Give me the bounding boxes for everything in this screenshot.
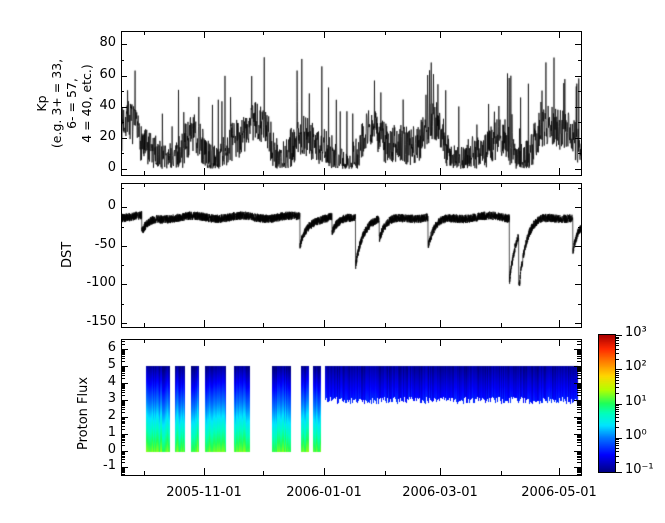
x-tick-major (324, 168, 325, 175)
x-tick-major (385, 323, 386, 327)
colorbar-tick-minor (615, 353, 619, 354)
flux-y-tick-minor (121, 440, 125, 441)
x-tick-major (385, 171, 386, 175)
flux-y-tick-minor (121, 358, 125, 359)
dst-y-tick-right (575, 207, 581, 208)
kp-y-tick-minor (578, 60, 581, 61)
flux-y-tick-minor (121, 370, 125, 371)
kp-title-line-4: 4 = 40, etc.) (79, 31, 94, 176)
flux-y-tick-minor (121, 404, 125, 405)
flux-y-tick-minor (121, 436, 125, 437)
x-tick-major (559, 320, 560, 327)
kp-title-line-1: Kp (34, 31, 49, 176)
flux-y-tick-minor (121, 367, 125, 368)
flux-y-tick-minor (577, 387, 581, 388)
dst-y-tick-minor (578, 265, 581, 266)
x-tick-major-top (324, 31, 325, 38)
flux-y-tick-minor (121, 368, 125, 369)
dst-y-tick-minor (578, 227, 581, 228)
x-tick-major (263, 323, 264, 327)
flux-y-tick-minor (121, 435, 125, 436)
colorbar-tick-minor (615, 417, 619, 418)
colorbar-tick-minor (615, 411, 619, 412)
dst-y-tick (121, 323, 127, 324)
x-tick-major-top (440, 183, 441, 190)
x-tick-major-top (263, 339, 264, 343)
kp-y-tick (121, 44, 127, 45)
x-tick-major (440, 468, 441, 475)
x-tick-major (559, 468, 560, 475)
flux-y-tick-minor (577, 421, 581, 422)
x-tick-major-top (144, 183, 145, 187)
flux-y-tick-minor (121, 457, 125, 458)
flux-y-tick-minor (121, 388, 125, 389)
flux-y-tick-minor (577, 354, 581, 355)
flux-y-tick-minor (577, 451, 581, 452)
flux-y-tick-minor (121, 426, 125, 427)
flux-y-tick-minor (577, 352, 581, 353)
kp-y-tick-minor (578, 91, 581, 92)
colorbar-tick-minor (615, 338, 619, 339)
colorbar-tick-minor (615, 380, 619, 381)
flux-y-tick-minor (577, 402, 581, 403)
flux-y-tick-minor (577, 474, 581, 475)
colorbar-gradient (599, 335, 615, 472)
dst-y-tick-minor (121, 265, 124, 266)
dst-y-tick (121, 207, 127, 208)
colorbar-tick-minor (615, 448, 619, 449)
flux-y-tick-minor (577, 470, 581, 471)
flux-y-tick-minor (577, 344, 581, 345)
flux-y-tick-minor (577, 442, 581, 443)
kp-y-tick (121, 76, 127, 77)
dst-ytick-label: -100 (64, 275, 116, 290)
flux-y-tick-minor (121, 459, 125, 460)
kp-panel (121, 31, 582, 176)
kp-y-tick-minor (121, 60, 124, 61)
x-tick-major-top (559, 339, 560, 346)
colorbar-tick-minor (615, 343, 619, 344)
flux-y-tick-minor (577, 367, 581, 368)
flux-y-tick-minor (121, 442, 125, 443)
x-tick-major-top (144, 31, 145, 35)
x-tick-major (263, 471, 264, 475)
x-tick-major-top (440, 31, 441, 38)
flux-y-tick-minor (577, 373, 581, 374)
colorbar-tick-minor (615, 371, 619, 372)
flux-y-tick-minor (577, 368, 581, 369)
flux-y-tick-minor (121, 350, 125, 351)
flux-y-tick-minor (577, 423, 581, 424)
kp-y-tick-right (575, 76, 581, 77)
colorbar (598, 334, 616, 473)
colorbar-tick-minor (615, 375, 619, 376)
colorbar-tick-label: 10² (625, 359, 647, 374)
flux-y-tick-minor (121, 421, 125, 422)
kp-y-tick (121, 169, 127, 170)
x-tick-major-top (385, 183, 386, 187)
flux-y-tick-minor (577, 384, 581, 385)
x-tick-major (501, 171, 502, 175)
flux-y-tick-minor (121, 403, 125, 404)
colorbar-tick-minor (615, 439, 619, 440)
flux-y-tick-minor (121, 385, 125, 386)
dst-y-tick-minor (121, 188, 124, 189)
dst-axis-title: DST (60, 242, 75, 268)
flux-y-tick-minor (577, 358, 581, 359)
flux-y-tick-minor (121, 469, 125, 470)
dst-y-tick-minor (578, 304, 581, 305)
flux-y-tick-minor (121, 453, 125, 454)
flux-y-tick-minor (577, 390, 581, 391)
flux-y-tick-minor (121, 353, 125, 354)
kp-y-tick-minor (121, 122, 124, 123)
flux-y-tick-minor (577, 395, 581, 396)
dst-y-tick-right (575, 323, 581, 324)
x-tick-label: 2006-05-01 (507, 485, 611, 500)
flux-y-tick-minor (577, 392, 581, 393)
x-tick-major (501, 471, 502, 475)
flux-y-tick-minor (577, 439, 581, 440)
colorbar-tick-minor (615, 456, 619, 457)
flux-y-tick-minor (577, 378, 581, 379)
dst-panel (121, 183, 582, 328)
figure-canvas: 806040200 Kp(e.g. 3+ = 33,6- = 57,4 = 40… (0, 0, 665, 523)
kp-axis-title: Kp(e.g. 3+ = 33,6- = 57,4 = 40, etc.) (34, 31, 94, 176)
flux-y-tick-minor (121, 375, 125, 376)
kp-title-line-3: 6- = 57, (64, 31, 79, 176)
flux-y-tick-minor (121, 451, 125, 452)
colorbar-tick-minor (615, 409, 619, 410)
flux-y-tick-minor (121, 412, 125, 413)
flux-y-tick-minor (577, 457, 581, 458)
kp-y-tick-right (575, 169, 581, 170)
flux-y-tick-minor (577, 459, 581, 460)
flux-ytick-label: 5 (86, 357, 116, 372)
colorbar-tick-minor (615, 441, 619, 442)
flux-y-tick-minor (577, 361, 581, 362)
proton-flux-heatmap-canvas (122, 340, 581, 475)
flux-y-tick-minor (121, 378, 125, 379)
flux-y-tick-minor (577, 388, 581, 389)
colorbar-tick-minor (615, 414, 619, 415)
x-tick-major (144, 471, 145, 475)
flux-y-tick-minor (577, 375, 581, 376)
x-tick-major (324, 468, 325, 475)
x-tick-major-top (501, 339, 502, 343)
flux-y-tick-minor (121, 373, 125, 374)
x-tick-major (501, 323, 502, 327)
flux-y-tick-minor (577, 462, 581, 463)
colorbar-tick-minor (615, 349, 619, 350)
x-tick-major (263, 171, 264, 175)
flux-y-tick-minor (577, 437, 581, 438)
colorbar-tick-minor (615, 407, 619, 408)
dst-y-tick (121, 284, 127, 285)
x-tick-major-top (501, 183, 502, 187)
flux-y-tick-minor (121, 423, 125, 424)
colorbar-tick-minor (615, 421, 619, 422)
colorbar-tick-minor (615, 345, 619, 346)
flux-y-tick-minor (577, 456, 581, 457)
flux-y-tick-minor (121, 387, 125, 388)
flux-y-tick-minor (121, 402, 125, 403)
flux-y-tick-minor (577, 404, 581, 405)
dst-y-tick-minor (121, 227, 124, 228)
flux-y-tick-minor (577, 369, 581, 370)
x-tick-major-top (204, 339, 205, 346)
flux-y-tick-minor (121, 351, 125, 352)
x-tick-major (204, 320, 205, 327)
colorbar-tick-minor (615, 462, 619, 463)
flux-y-tick-minor (121, 462, 125, 463)
flux-y-tick-minor (121, 409, 125, 410)
x-tick-major (144, 171, 145, 175)
kp-y-tick-right (575, 138, 581, 139)
x-tick-major (385, 471, 386, 475)
x-tick-major (440, 168, 441, 175)
flux-y-tick-minor (577, 407, 581, 408)
flux-y-tick-minor (577, 471, 581, 472)
colorbar-tick-minor (615, 405, 619, 406)
flux-ytick-label: 6 (86, 340, 116, 355)
flux-y-tick-minor (577, 385, 581, 386)
flux-y-tick-minor (577, 409, 581, 410)
flux-y-tick-minor (121, 429, 125, 430)
flux-y-tick-minor (121, 352, 125, 353)
x-tick-major-top (204, 31, 205, 38)
colorbar-tick-minor (615, 337, 619, 338)
flux-y-tick-minor (121, 392, 125, 393)
flux-y-tick-minor (121, 354, 125, 355)
kp-y-tick-right (575, 44, 581, 45)
flux-y-tick-minor (121, 454, 125, 455)
colorbar-tick-minor (615, 387, 619, 388)
flux-y-tick-minor (121, 422, 125, 423)
flux-y-tick-minor (121, 456, 125, 457)
dst-y-tick-minor (578, 188, 581, 189)
flux-y-tick-minor (577, 440, 581, 441)
flux-y-tick-minor (577, 472, 581, 473)
flux-y-tick-minor (577, 468, 581, 469)
flux-y-tick-minor (577, 350, 581, 351)
flux-y-tick-minor (121, 401, 125, 402)
kp-y-tick-minor (121, 153, 124, 154)
flux-y-tick-minor (121, 452, 125, 453)
x-tick-label: 2005-11-01 (152, 485, 256, 500)
kp-y-tick (121, 107, 127, 108)
dst-y-tick (121, 246, 127, 247)
flux-y-tick-minor (577, 453, 581, 454)
colorbar-tick-minor (615, 383, 619, 384)
colorbar-tick-minor (615, 340, 619, 341)
x-tick-major (144, 323, 145, 327)
x-tick-label: 2006-01-01 (272, 485, 376, 500)
flux-y-tick-minor (577, 436, 581, 437)
flux-y-tick-minor (121, 407, 125, 408)
kp-y-tick-right (575, 107, 581, 108)
flux-y-tick-minor (121, 437, 125, 438)
flux-y-tick-minor (121, 390, 125, 391)
kp-series-canvas (122, 32, 581, 175)
x-tick-major (324, 320, 325, 327)
flux-y-tick-minor (577, 371, 581, 372)
flux-y-tick-minor (121, 369, 125, 370)
flux-y-tick-minor (121, 386, 125, 387)
kp-title-line-2: (e.g. 3+ = 33, (49, 31, 64, 176)
kp-y-tick-minor (121, 91, 124, 92)
dst-y-tick-minor (121, 304, 124, 305)
flux-y-tick-minor (577, 403, 581, 404)
colorbar-tick-minor (615, 377, 619, 378)
colorbar-tick-minor (615, 359, 619, 360)
colorbar-tick-minor (615, 427, 619, 428)
x-tick-major-top (263, 183, 264, 187)
x-tick-major-top (559, 183, 560, 190)
flux-y-tick-minor (577, 454, 581, 455)
flux-y-tick-minor (577, 341, 581, 342)
flux-y-tick-minor (121, 395, 125, 396)
x-tick-major-top (440, 339, 441, 346)
flux-y-tick-minor (121, 468, 125, 469)
flux-y-tick-minor (121, 361, 125, 362)
x-tick-major (559, 168, 560, 175)
flux-y-tick-minor (577, 435, 581, 436)
flux-y-tick-minor (577, 370, 581, 371)
flux-y-tick-minor (121, 371, 125, 372)
x-tick-major (204, 468, 205, 475)
colorbar-tick-label: 10³ (625, 325, 647, 340)
dst-y-tick-right (575, 246, 581, 247)
flux-y-tick-minor (577, 418, 581, 419)
x-tick-major-top (204, 183, 205, 190)
x-tick-major-top (324, 339, 325, 346)
x-tick-major-top (144, 339, 145, 343)
flux-y-tick-minor (121, 434, 125, 435)
flux-y-tick-minor (577, 356, 581, 357)
flux-y-tick-minor (577, 412, 581, 413)
flux-y-tick-minor (121, 470, 125, 471)
flux-y-tick-minor (577, 401, 581, 402)
flux-y-tick-minor (121, 472, 125, 473)
flux-y-tick-minor (577, 353, 581, 354)
flux-y-tick-minor (121, 384, 125, 385)
flux-y-tick-minor (121, 474, 125, 475)
flux-y-tick-minor (121, 356, 125, 357)
flux-y-tick-minor (577, 445, 581, 446)
colorbar-tick-minor (615, 445, 619, 446)
kp-y-tick-minor (578, 153, 581, 154)
proton-flux-axis-title: Proton Flux (76, 377, 91, 450)
flux-y-tick-minor (121, 439, 125, 440)
colorbar-tick-major (615, 472, 622, 473)
x-tick-major-top (559, 31, 560, 38)
x-tick-major (440, 320, 441, 327)
kp-y-tick-minor (578, 122, 581, 123)
flux-y-tick-minor (577, 405, 581, 406)
dst-series-canvas (122, 184, 581, 327)
flux-y-tick-minor (577, 351, 581, 352)
dst-ytick-label: -150 (64, 314, 116, 329)
kp-y-tick (121, 138, 127, 139)
x-tick-major-top (385, 339, 386, 343)
x-tick-label: 2006-03-01 (388, 485, 492, 500)
flux-y-tick-minor (121, 341, 125, 342)
flux-y-tick-minor (577, 419, 581, 420)
colorbar-tick-label: 10¹ (625, 394, 647, 409)
x-tick-major (204, 168, 205, 175)
colorbar-tick-minor (615, 373, 619, 374)
proton-flux-panel (121, 339, 582, 476)
dst-y-tick-right (575, 284, 581, 285)
x-tick-major-top (324, 183, 325, 190)
flux-y-tick-minor (121, 418, 125, 419)
flux-y-tick-minor (121, 344, 125, 345)
flux-y-tick-minor (577, 426, 581, 427)
flux-y-tick-minor (121, 471, 125, 472)
x-tick-major-top (501, 31, 502, 35)
flux-y-tick-minor (577, 452, 581, 453)
flux-y-tick-minor (577, 469, 581, 470)
flux-y-tick-minor (121, 445, 125, 446)
flux-y-tick-minor (577, 434, 581, 435)
flux-y-tick-minor (577, 429, 581, 430)
colorbar-tick-minor (615, 451, 619, 452)
flux-y-tick-minor (577, 386, 581, 387)
flux-y-tick-minor (577, 422, 581, 423)
colorbar-tick-minor (615, 443, 619, 444)
flux-y-tick-minor (121, 405, 125, 406)
flux-y-tick-minor (121, 419, 125, 420)
colorbar-tick-minor (615, 393, 619, 394)
colorbar-tick-label: 10⁰ (625, 428, 647, 443)
dst-ytick-label: 0 (64, 198, 116, 213)
x-tick-major-top (263, 31, 264, 35)
colorbar-tick-label: 10⁻¹ (625, 462, 654, 477)
x-tick-major-top (385, 31, 386, 35)
flux-ytick-label: -1 (86, 458, 116, 473)
